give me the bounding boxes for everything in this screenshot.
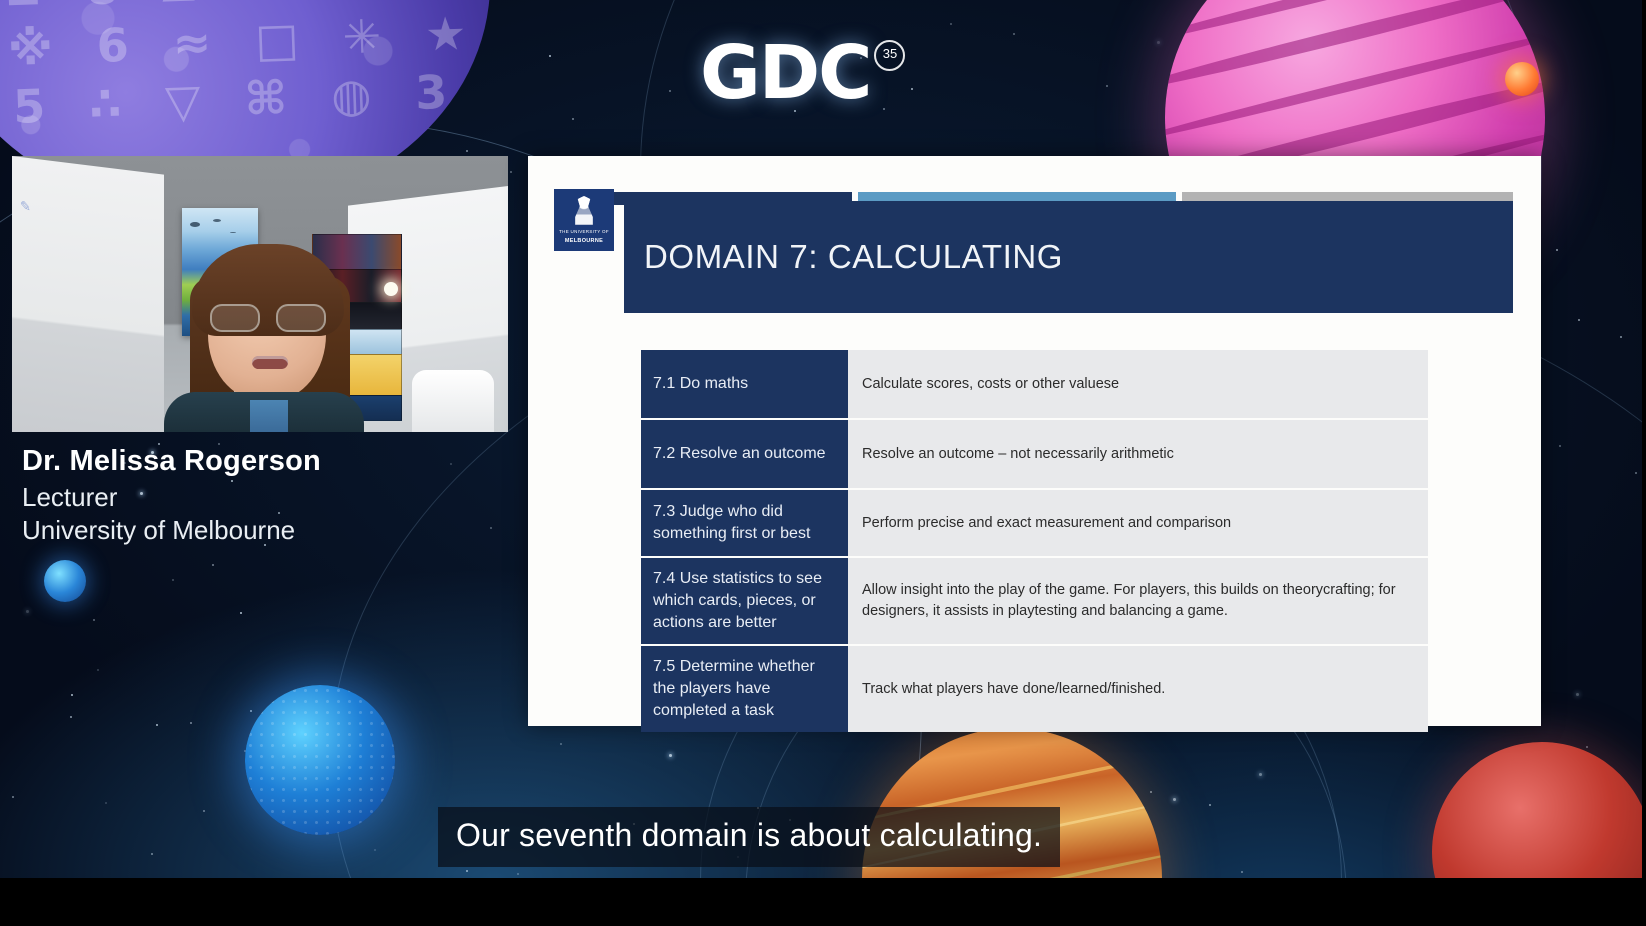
domain-table: 7.1 Do maths Calculate scores, costs or … xyxy=(641,350,1428,732)
table-row: 7.2 Resolve an outcome Resolve an outcom… xyxy=(641,420,1428,488)
table-cell-label: 7.3 Judge who did something first or bes… xyxy=(641,490,848,556)
office-chair xyxy=(412,370,494,432)
whiteboard-scrawl: ✎ xyxy=(20,199,82,267)
table-row: 7.3 Judge who did something first or bes… xyxy=(641,490,1428,556)
table-row: 7.4 Use statistics to see which cards, p… xyxy=(641,558,1428,644)
table-cell-label: 7.2 Resolve an outcome xyxy=(641,420,848,488)
gdc-logo: GDC 35 xyxy=(700,36,905,110)
presenter-role: Lecturer xyxy=(22,482,321,513)
table-cell-description: Track what players have done/learned/fin… xyxy=(848,646,1428,732)
presenter-lanyard xyxy=(250,400,288,432)
university-crest-icon xyxy=(571,196,597,226)
table-row: 7.1 Do maths Calculate scores, costs or … xyxy=(641,350,1428,418)
subtitle-caption: Our seventh domain is about calculating. xyxy=(438,807,1060,867)
star xyxy=(572,118,574,120)
presentation-slide[interactable]: THE UNIVERSITY OF MELBOURNE DOMAIN 7: CA… xyxy=(528,156,1541,726)
star xyxy=(549,55,551,57)
letterbox-right-bar xyxy=(1642,0,1646,926)
table-row: 7.5 Determine whether the players have c… xyxy=(641,646,1428,732)
gdc-logo-text: GDC xyxy=(700,36,870,110)
planet-small-blue-decoration xyxy=(44,560,86,602)
gdc-anniversary-badge: 35 xyxy=(874,40,905,71)
presenter-organization: University of Melbourne xyxy=(22,515,321,546)
table-cell-label: 7.4 Use statistics to see which cards, p… xyxy=(641,558,848,644)
university-of-melbourne-logo: THE UNIVERSITY OF MELBOURNE xyxy=(554,189,614,251)
slide-title-band: DOMAIN 7: CALCULATING xyxy=(624,201,1513,313)
star xyxy=(1620,336,1622,338)
webcam-wall-left: ✎ xyxy=(12,156,164,432)
university-logo-line-1: THE UNIVERSITY OF xyxy=(559,229,609,235)
presenter-webcam-video[interactable]: ✎ xyxy=(12,156,508,432)
table-cell-label: 7.5 Determine whether the players have c… xyxy=(641,646,848,732)
presenter-glasses xyxy=(210,304,326,330)
presenter-info: Dr. Melissa Rogerson Lecturer University… xyxy=(22,445,321,548)
table-cell-description: Perform precise and exact measurement an… xyxy=(848,490,1428,556)
webcam-light-reflection xyxy=(384,282,398,296)
table-cell-description: Calculate scores, costs or other valuese xyxy=(848,350,1428,418)
slide-title: DOMAIN 7: CALCULATING xyxy=(644,238,1063,276)
university-logo-line-2: MELBOURNE xyxy=(565,238,603,244)
presenter-name: Dr. Melissa Rogerson xyxy=(22,445,321,478)
planet-orange-dot-decoration xyxy=(1505,62,1539,96)
planet-teal-decoration xyxy=(245,685,395,835)
star xyxy=(1556,249,1558,251)
presentation-stream-frame: ∑ ≡ 8 ∆ ∞ 9 ○ △◇ ※ 6 ≈ □ ✳ ★ ◎⊕ 5 ∴ ▽ ⌘ … xyxy=(0,0,1646,926)
table-cell-label: 7.1 Do maths xyxy=(641,350,848,418)
letterbox-bottom-bar xyxy=(0,878,1646,926)
table-cell-description: Resolve an outcome – not necessarily ari… xyxy=(848,420,1428,488)
table-cell-description: Allow insight into the play of the game.… xyxy=(848,558,1428,644)
star xyxy=(1578,319,1580,321)
presenter-mouth xyxy=(252,356,288,369)
